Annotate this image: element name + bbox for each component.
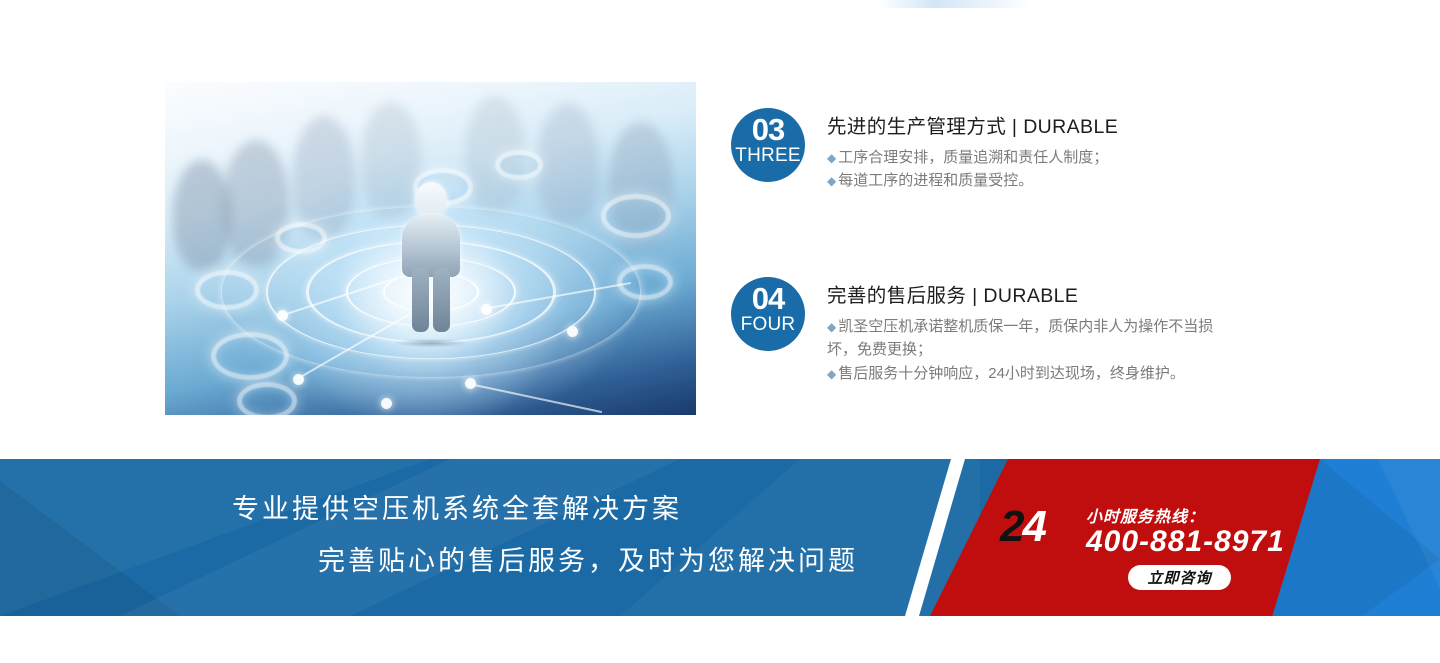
gear-shape-8 bbox=[495, 150, 543, 180]
bullet-icon: ◆ bbox=[827, 151, 836, 165]
hotline-phone-number: 400-881-8971 bbox=[1086, 525, 1285, 559]
feature-badge-03: 03 THREE bbox=[731, 108, 805, 182]
bottom-cta-banner: 专业提供空压机系统全套解决方案 完善贴心的售后服务，及时为您解决问题 24 小时… bbox=[0, 459, 1440, 616]
person-body bbox=[402, 215, 460, 277]
hotline-block: 24 小时服务热线： 400-881-8971 bbox=[1000, 503, 1300, 573]
network-node-5 bbox=[567, 326, 578, 337]
network-node-6 bbox=[481, 304, 492, 315]
feature-line-text: 凯圣空压机承诺整机质保一年，质保内非人为操作不当损坏，免费更换； bbox=[827, 318, 1213, 358]
banner-slogan-line-2: 完善贴心的售后服务，及时为您解决问题 bbox=[318, 539, 858, 578]
feature-line-text: 每道工序的进程和质量受控。 bbox=[838, 172, 1033, 189]
feature-badge-word: THREE bbox=[735, 146, 800, 182]
page-root: 03 THREE 先进的生产管理方式 | DURABLE ◆工序合理安排，质量追… bbox=[0, 0, 1440, 663]
person-shadow bbox=[394, 338, 468, 347]
person-leg-left bbox=[412, 268, 429, 332]
top-edge-artifact bbox=[880, 0, 1030, 8]
gear-shape-5 bbox=[601, 194, 671, 238]
banner-slogan-line-1: 专业提供空压机系统全套解决方案 bbox=[232, 487, 682, 526]
banner-slogans: 专业提供空压机系统全套解决方案 完善贴心的售后服务，及时为您解决问题 bbox=[0, 459, 960, 616]
hotline-digit-4: 4 bbox=[1022, 502, 1044, 551]
person-leg-right bbox=[433, 268, 450, 332]
consult-now-button[interactable]: 立即咨询 bbox=[1128, 565, 1231, 590]
person-head bbox=[415, 182, 447, 218]
gear-shape-3 bbox=[237, 382, 297, 415]
hotline-label: 小时服务热线： bbox=[1086, 503, 1205, 527]
network-node-4 bbox=[465, 378, 476, 389]
feature-line-text: 售后服务十分钟响应，24小时到达现场，终身维护。 bbox=[838, 365, 1185, 382]
network-node-1 bbox=[277, 310, 288, 321]
bg-person-6 bbox=[537, 104, 599, 224]
feature-body-04: 完善的售后服务 | DURABLE ◆凯圣空压机承诺整机质保一年，质保内非人为操… bbox=[827, 277, 1237, 385]
feature-title: 先进的生产管理方式 | DURABLE bbox=[827, 110, 1118, 139]
feature-line: ◆工序合理安排，质量追溯和责任人制度； bbox=[827, 146, 1118, 169]
feature-line-text: 工序合理安排，质量追溯和责任人制度； bbox=[838, 149, 1108, 166]
bullet-icon: ◆ bbox=[827, 320, 836, 334]
hotline-24-badge: 24 bbox=[1000, 505, 1045, 549]
hotline-digit-2: 2 bbox=[1000, 502, 1022, 551]
feature-badge-number: 04 bbox=[731, 283, 805, 314]
bullet-icon: ◆ bbox=[827, 174, 836, 188]
feature-line: ◆售后服务十分钟响应，24小时到达现场，终身维护。 bbox=[827, 362, 1237, 385]
feature-badge-04: 04 FOUR bbox=[731, 277, 805, 351]
feature-item-04: 04 FOUR 完善的售后服务 | DURABLE ◆凯圣空压机承诺整机质保一年… bbox=[731, 277, 1237, 385]
network-node-2 bbox=[293, 374, 304, 385]
network-node-3 bbox=[381, 398, 392, 409]
feature-title: 完善的售后服务 | DURABLE bbox=[827, 279, 1237, 308]
feature-item-03: 03 THREE 先进的生产管理方式 | DURABLE ◆工序合理安排，质量追… bbox=[731, 108, 1118, 193]
feature-badge-word: FOUR bbox=[741, 315, 796, 351]
bullet-icon: ◆ bbox=[827, 367, 836, 381]
feature-body-03: 先进的生产管理方式 | DURABLE ◆工序合理安排，质量追溯和责任人制度； … bbox=[827, 108, 1118, 193]
feature-line: ◆凯圣空压机承诺整机质保一年，质保内非人为操作不当损坏，免费更换； bbox=[827, 315, 1237, 362]
feature-line: ◆每道工序的进程和质量受控。 bbox=[827, 169, 1118, 192]
feature-badge-number: 03 bbox=[731, 114, 805, 145]
person-silhouette bbox=[400, 182, 462, 332]
feature-photo bbox=[165, 82, 696, 415]
